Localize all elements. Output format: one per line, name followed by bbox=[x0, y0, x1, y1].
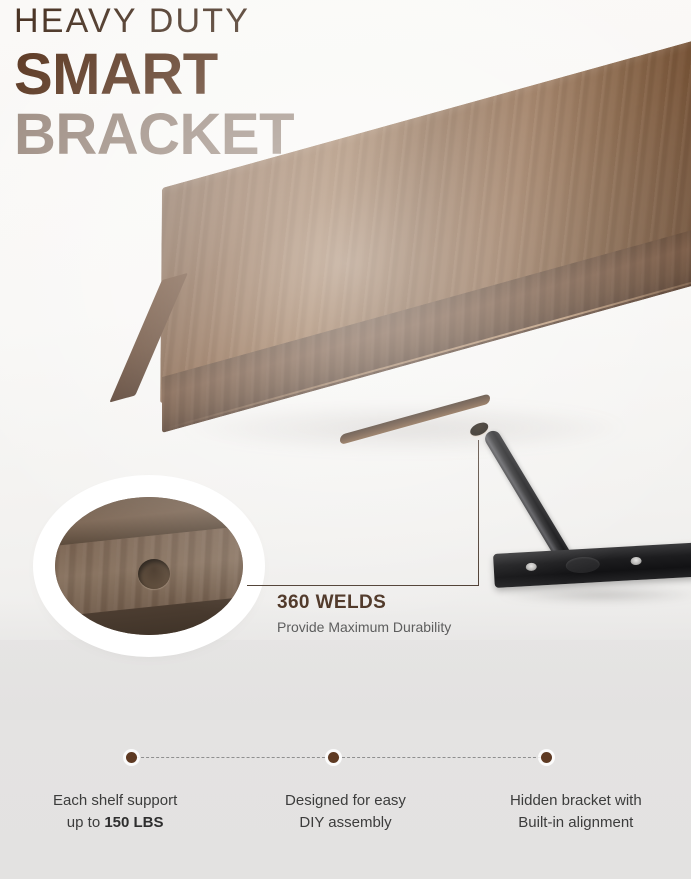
callout-title: 360 WELDS bbox=[277, 592, 577, 615]
feature-1-line-1: Each shelf support bbox=[6, 790, 224, 812]
feature-2-line-2: DIY assembly bbox=[236, 812, 454, 834]
feature-2-line-1: Designed for easy bbox=[236, 790, 454, 812]
feature-item-3: Hidden bracket with Built-in alignment bbox=[461, 790, 691, 834]
feature-dot-3 bbox=[541, 752, 552, 763]
product-marketing-image: HEAVY DUTY SMART BRACKET 360 WEL bbox=[0, 0, 691, 879]
magnifier-inner bbox=[55, 497, 243, 635]
feature-item-2: Designed for easy DIY assembly bbox=[230, 790, 460, 834]
feature-dot-2 bbox=[328, 752, 339, 763]
headline-line-1: SMART bbox=[14, 45, 534, 104]
shelf-product-photo bbox=[150, 188, 691, 518]
feature-row: Each shelf support up to 150 LBS Designe… bbox=[0, 790, 691, 834]
magnifier-drilled-hole bbox=[138, 559, 170, 589]
bracket-screw-hole bbox=[630, 557, 641, 566]
leader-line-vertical bbox=[478, 440, 479, 586]
feature-item-1: Each shelf support up to 150 LBS bbox=[0, 790, 230, 834]
feature-dot-1 bbox=[126, 752, 137, 763]
feature-3-line-2: Built-in alignment bbox=[467, 812, 685, 834]
callout-block: 360 WELDS Provide Maximum Durability bbox=[277, 592, 577, 636]
callout-subtitle: Provide Maximum Durability bbox=[277, 619, 577, 637]
bracket-dimple bbox=[565, 556, 600, 574]
feature-3-line-1: Hidden bracket with bbox=[467, 790, 685, 812]
feature-1-line-2: up to 150 LBS bbox=[6, 812, 224, 834]
leader-line-horizontal bbox=[247, 585, 479, 586]
headline-eyebrow: HEAVY DUTY bbox=[14, 2, 534, 40]
bracket-screw-hole bbox=[526, 563, 537, 572]
feature-1-highlight: 150 LBS bbox=[104, 814, 163, 831]
magnifier-detail-circle bbox=[44, 486, 254, 646]
feature-1-prefix: up to bbox=[67, 814, 105, 831]
